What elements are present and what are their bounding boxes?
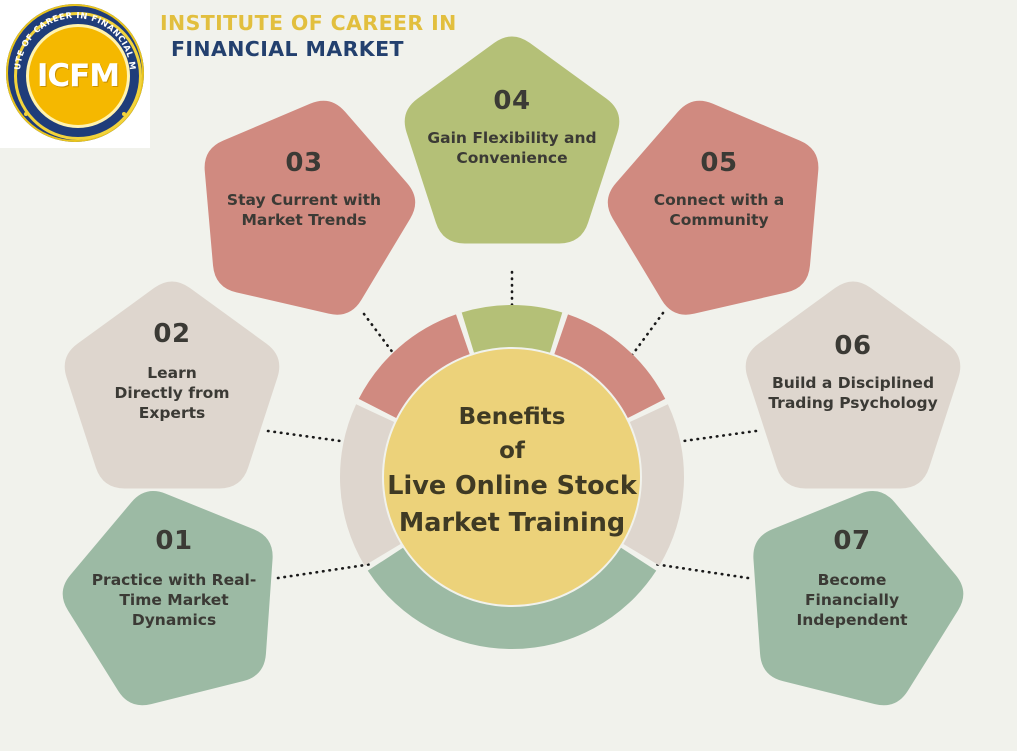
connector-line-01 [278, 564, 372, 578]
pentagon-node-02[interactable] [65, 281, 280, 488]
pentagon-node-05[interactable] [608, 101, 819, 315]
connector-line-07 [654, 564, 748, 578]
pentagon-node-01[interactable] [63, 491, 273, 705]
infographic-canvas: INSTITUTE OF CAREER IN FINANCIAL MARKET … [0, 0, 1017, 751]
logo-center-disc: ICFM [26, 24, 130, 128]
brand-line-1: INSTITUTE OF CAREER IN [160, 10, 457, 36]
pentagon-node-07[interactable] [753, 491, 963, 705]
logo-monogram: ICFM [37, 58, 119, 94]
logo-block: INSTITUTE OF CAREER IN FINANCIAL MARKET … [0, 0, 150, 148]
brand-title: INSTITUTE OF CAREER IN FINANCIAL MARKET [160, 10, 457, 62]
logo-dot-left [24, 112, 28, 116]
pentagon-node-03[interactable] [205, 101, 416, 315]
segment-green-top [462, 305, 563, 353]
pentagon-node-06[interactable] [746, 281, 961, 488]
brand-line-2: FINANCIAL MARKET [171, 36, 457, 62]
benefits-diagram [0, 0, 1017, 751]
logo-dot-right [122, 112, 126, 116]
center-circle [384, 349, 640, 605]
pentagon-node-04[interactable] [405, 36, 620, 243]
